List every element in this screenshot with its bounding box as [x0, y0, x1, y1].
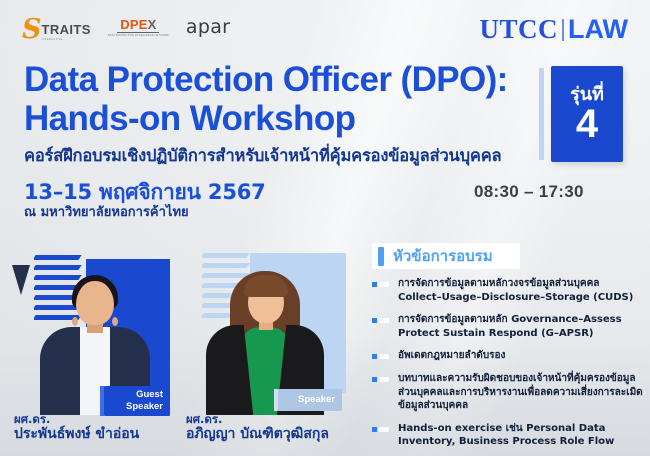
bullet-marker-icon	[372, 318, 389, 323]
event-date: 13–15 พฤศจิกายน 2567	[24, 180, 266, 204]
avatar-fringe	[244, 275, 288, 297]
utcc-law-logo: UTCC LAW	[479, 16, 628, 43]
avatar-lapel	[12, 265, 30, 295]
bullet-marker-icon	[372, 354, 389, 359]
utcc-wordmark: UTCC	[479, 16, 558, 43]
dpex-tagline: DATA PROTECTION EXCELLENCE NETWORK	[108, 35, 169, 38]
speaker-badge: Speaker	[278, 389, 342, 411]
cohort-badge-number: 4	[576, 104, 598, 144]
apar-logo: apar	[186, 18, 230, 37]
speaker-name-main: ผศ.ดร. อภิญญา บัณฑิตวุฒิสกุล	[186, 412, 376, 443]
topics-list: การจัดการข้อมูลตามหลักวงจรข้อมูลส่วนบุคค…	[372, 277, 644, 456]
partner-logo-bar: S TRAITS INTERACTIVE DPEX DATA PROTECTIO…	[22, 14, 230, 41]
straits-wordmark: TRAITS	[42, 23, 91, 36]
topics-heading-accent-bar	[378, 247, 384, 266]
list-item-label: บทบาทและความรับผิดชอบของเจ้าหน้าที่คุ้มค…	[398, 372, 644, 413]
speaker-badge-label: Speaker	[298, 394, 335, 405]
event-time: 08:30 – 17:30	[474, 182, 584, 202]
bullet-marker-icon	[372, 377, 389, 382]
list-item: Hands-on exercise เช่น Personal Data Inv…	[372, 422, 644, 449]
list-item: บทบาทและความรับผิดชอบของเจ้าหน้าที่คุ้มค…	[372, 372, 644, 413]
straits-logo: S TRAITS INTERACTIVE	[22, 14, 91, 41]
event-venue: ณ มหาวิทยาลัยหอการค้าไทย	[24, 205, 189, 221]
badge-edge	[274, 389, 278, 411]
dpex-logo: DPEX DATA PROTECTION EXCELLENCE NETWORK	[108, 18, 169, 38]
topics-heading: หัวข้อการอบรม	[372, 243, 520, 269]
avatar-face	[76, 281, 114, 325]
straits-tagline: INTERACTIVE	[42, 38, 63, 41]
page-title: Data Protection Officer (DPO): Hands-on …	[24, 60, 534, 138]
list-item-label: การจัดการข้อมูลตามหลักวงจรข้อมูลส่วนบุคค…	[398, 277, 644, 304]
topics-heading-label: หัวข้อการอบรม	[393, 248, 493, 265]
page-subtitle: คอร์สฝึกอบรมเชิงปฏิบัติการสำหรับเจ้าหน้า…	[24, 146, 544, 165]
cohort-badge: รุ่นที่ 4	[551, 66, 623, 162]
speaker-title: ผศ.ดร.	[186, 412, 376, 426]
poster-canvas: S TRAITS INTERACTIVE DPEX DATA PROTECTIO…	[0, 0, 650, 456]
badge-divider-bar	[539, 68, 544, 160]
list-item-label: การจัดการข้อมูลตามหลัก Governance–Assess…	[398, 313, 644, 340]
bullet-marker-icon	[372, 282, 389, 287]
list-item: การจัดการข้อมูลตามหลักวงจรข้อมูลส่วนบุคค…	[372, 277, 644, 304]
list-item-label: Hands-on exercise เช่น Personal Data Inv…	[398, 422, 644, 449]
speaker-fullname: อภิญญา บัณฑิตวุฒิสกุล	[186, 426, 376, 443]
straits-s-mark: S	[22, 16, 41, 43]
speaker-title: ผศ.ดร.	[14, 412, 184, 426]
utcc-divider	[562, 19, 564, 41]
law-wordmark: LAW	[568, 16, 628, 43]
guest-speaker-badge-label: Guest Speaker	[126, 389, 163, 412]
list-item-label: อัพเดตกฎหมายลำดับรอง	[398, 349, 505, 363]
list-item: อัพเดตกฎหมายลำดับรอง	[372, 349, 644, 363]
dpex-wordmark: DPEX	[120, 18, 156, 31]
list-item: การจัดการข้อมูลตามหลัก Governance–Assess…	[372, 313, 644, 340]
speaker-name-guest: ผศ.ดร. ประพันธ์พงษ์ ขำอ่อน	[14, 412, 184, 443]
speaker-fullname: ประพันธ์พงษ์ ขำอ่อน	[14, 426, 184, 443]
